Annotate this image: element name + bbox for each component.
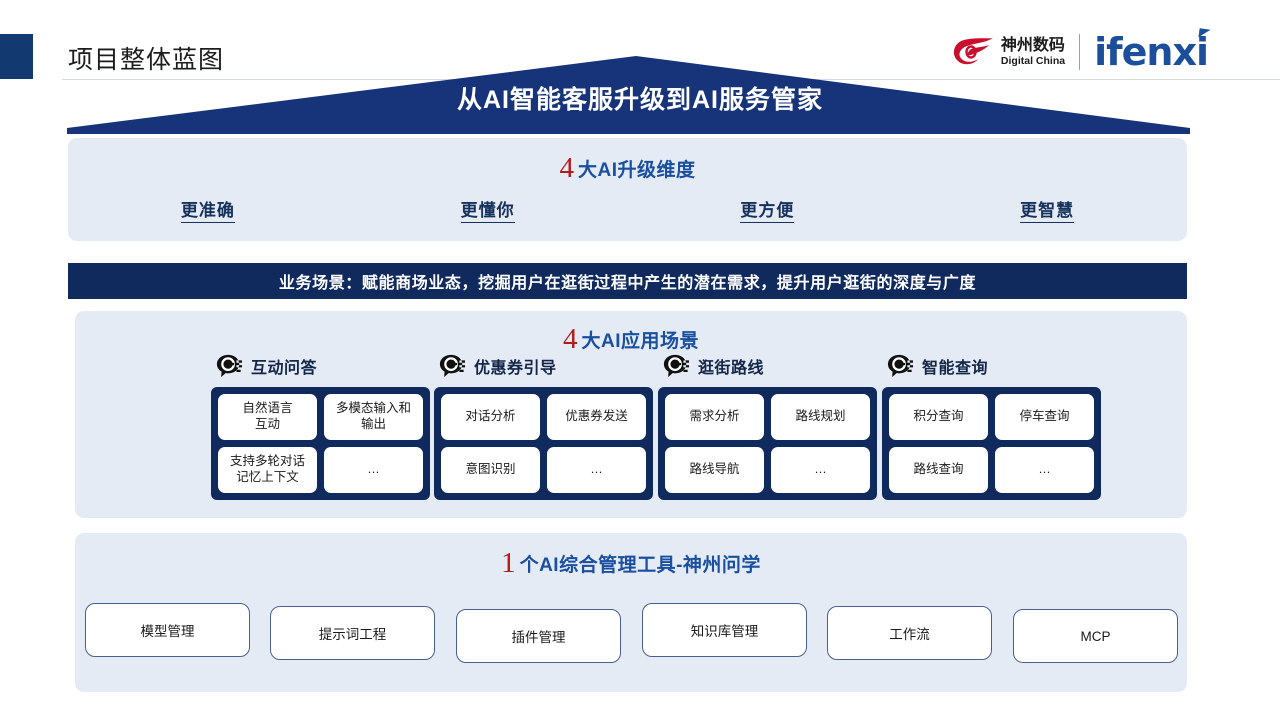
scenario-box-1: 对话分析 优惠券发送 意图识别 …: [434, 387, 653, 500]
ai-bot-icon: [438, 353, 466, 379]
business-scenario-text: 业务场景：赋能商场业态，挖掘用户在逛街过程中产生的潜在需求，提升用户逛街的深度与…: [279, 269, 976, 293]
scenario-header-1: 优惠券引导: [434, 349, 653, 383]
dimension-label-2: 更方便: [740, 201, 794, 223]
scenario-cell-2-0[interactable]: 需求分析: [665, 394, 764, 440]
scenario-column-2: 逛街路线 需求分析 路线规划 路线导航 …: [658, 349, 877, 500]
scenario-column-1: 优惠券引导 对话分析 优惠券发送 意图识别 …: [434, 349, 653, 500]
dimension-item-2[interactable]: 更方便: [628, 196, 908, 221]
scenario-cell-3-0[interactable]: 积分查询: [889, 394, 988, 440]
scenario-box-0: 自然语言互动 多模态输入和输出 支持多轮对话记忆上下文 …: [211, 387, 430, 500]
scenario-cell-0-2[interactable]: 支持多轮对话记忆上下文: [218, 447, 317, 493]
ai-management-tool-panel: 1个AI综合管理工具-神州问学 模型管理 提示词工程 插件管理 知识库管理 工作…: [75, 533, 1187, 692]
scenario-cell-3-3[interactable]: …: [995, 447, 1094, 493]
scenario-column-0: 互动问答 自然语言互动 多模态输入和输出 支持多轮对话记忆上下文 …: [211, 349, 430, 500]
dimension-item-0[interactable]: 更准确: [68, 196, 348, 221]
tool-box-prompt-engineering[interactable]: 提示词工程: [270, 606, 435, 660]
scenario-cell-1-1[interactable]: 优惠券发送: [547, 394, 646, 440]
scenario-cell-0-1[interactable]: 多模态输入和输出: [324, 394, 423, 440]
scenario-label-2: 逛街路线: [698, 354, 764, 378]
scenario-box-3: 积分查询 停车查询 路线查询 …: [882, 387, 1101, 500]
ai-bot-icon: [886, 353, 914, 379]
ifenxi-arrow-icon: [1198, 28, 1210, 38]
tools-row: 模型管理 提示词工程 插件管理 知识库管理 工作流 MCP: [85, 591, 1177, 671]
tool-box-model-management[interactable]: 模型管理: [85, 603, 250, 657]
dimension-label-1: 更懂你: [461, 201, 515, 223]
dimension-item-1[interactable]: 更懂你: [348, 196, 628, 221]
scenario-cell-0-0[interactable]: 自然语言互动: [218, 394, 317, 440]
scenario-header-3: 智能查询: [882, 349, 1101, 383]
scenario-cell-1-0[interactable]: 对话分析: [441, 394, 540, 440]
scenario-columns: 互动问答 自然语言互动 多模态输入和输出 支持多轮对话记忆上下文 … 优惠券引导…: [75, 311, 1187, 518]
ai-bot-icon: [215, 353, 243, 379]
scenario-cell-1-2[interactable]: 意图识别: [441, 447, 540, 493]
tool-box-mcp[interactable]: MCP: [1013, 609, 1178, 663]
tools-count: 1: [501, 547, 516, 579]
scenario-cell-3-2[interactable]: 路线查询: [889, 447, 988, 493]
tool-box-workflow[interactable]: 工作流: [827, 606, 992, 660]
tools-count-label: 个AI综合管理工具-神州问学: [520, 555, 761, 576]
digital-china-cn-text: 神州数码: [1001, 38, 1065, 54]
scenario-box-2: 需求分析 路线规划 路线导航 …: [658, 387, 877, 500]
scenario-cell-0-3[interactable]: …: [324, 447, 423, 493]
ai-upgrade-dimensions-panel: 4大AI升级维度 更准确 更懂你 更方便 更智慧: [68, 138, 1187, 241]
scenario-label-1: 优惠券引导: [474, 354, 557, 378]
business-scenario-bar: 业务场景：赋能商场业态，挖掘用户在逛街过程中产生的潜在需求，提升用户逛街的深度与…: [68, 263, 1187, 299]
tool-box-plugin-management[interactable]: 插件管理: [456, 609, 621, 663]
dimension-label-3: 更智慧: [1020, 201, 1074, 223]
dimensions-heading: 4大AI升级维度: [68, 152, 1187, 185]
title-banner: 从AI智能客服升级到AI服务管家: [0, 56, 1280, 134]
dimensions-count: 4: [559, 152, 574, 184]
scenario-header-0: 互动问答: [211, 349, 430, 383]
scenario-header-2: 逛街路线: [658, 349, 877, 383]
banner-title: 从AI智能客服升级到AI服务管家: [0, 80, 1280, 134]
ai-scenarios-panel: 4大AI应用场景 互动问答 自然语言互动 多模态输入和输出 支持多轮对话记忆上下…: [75, 311, 1187, 518]
scenario-cell-1-3[interactable]: …: [547, 447, 646, 493]
scenario-cell-2-2[interactable]: 路线导航: [665, 447, 764, 493]
tool-box-knowledge-base-management[interactable]: 知识库管理: [642, 603, 807, 657]
ai-bot-icon: [662, 353, 690, 379]
scenario-cell-2-3[interactable]: …: [771, 447, 870, 493]
dimensions-count-label: 大AI升级维度: [578, 160, 696, 181]
scenario-cell-2-1[interactable]: 路线规划: [771, 394, 870, 440]
dimension-item-3[interactable]: 更智慧: [907, 196, 1187, 221]
scenario-label-0: 互动问答: [251, 354, 317, 378]
dimension-label-0: 更准确: [181, 201, 235, 223]
tools-heading: 1个AI综合管理工具-神州问学: [75, 547, 1187, 580]
dimensions-row: 更准确 更懂你 更方便 更智慧: [68, 196, 1187, 221]
scenario-column-3: 智能查询 积分查询 停车查询 路线查询 …: [882, 349, 1101, 500]
scenario-label-3: 智能查询: [922, 354, 988, 378]
scenario-cell-3-1[interactable]: 停车查询: [995, 394, 1094, 440]
